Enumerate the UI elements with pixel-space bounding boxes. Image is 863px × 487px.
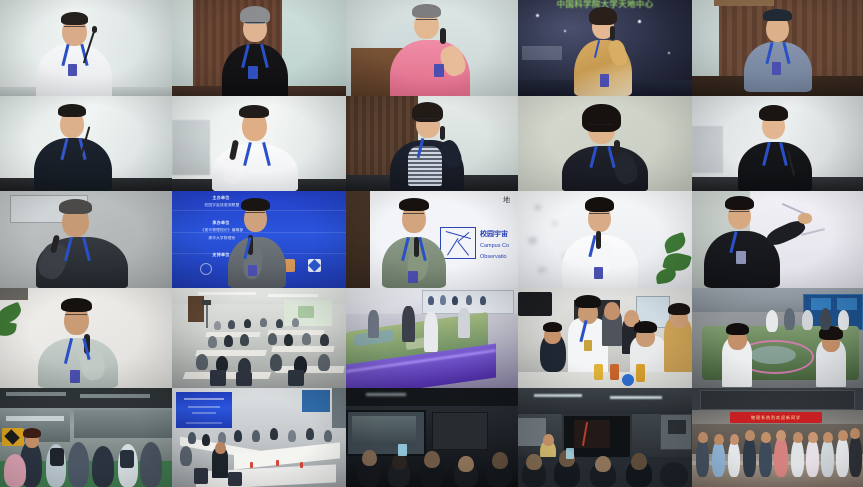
photo-cell-r4c1[interactable]	[0, 288, 172, 388]
photo-cell-r4c4[interactable]	[518, 288, 692, 388]
photo-cell-r1c2[interactable]	[172, 0, 346, 96]
photo-cell-r3c2[interactable]: 主办单位 校园宇宙线观测联盟 承办单位 《现代物理知识》编辑部 清华大学物理系 …	[172, 191, 346, 288]
photo-cell-r5c3[interactable]	[346, 388, 518, 487]
welcome-banner: 物理系热烈欢迎新同学	[730, 412, 822, 423]
logo-label-en-2: Observatio	[480, 254, 507, 260]
photo-cell-r5c4[interactable]	[518, 388, 692, 487]
photo-cell-r2c2[interactable]	[172, 96, 346, 191]
photo-cell-r3c5[interactable]	[692, 191, 863, 288]
photo-cell-r2c3[interactable]	[346, 96, 518, 191]
welcome-banner-text: 物理系热烈欢迎新同学	[730, 412, 822, 423]
photo-cell-r4c3[interactable]	[346, 288, 518, 388]
photo-cell-r5c1[interactable]	[0, 388, 172, 487]
photo-cell-r2c4[interactable]	[518, 96, 692, 191]
photo-cell-r1c5[interactable]	[692, 0, 863, 96]
logo-label-en-1: Campus Co	[480, 243, 509, 249]
photo-cell-r3c3[interactable]: 地 校园宇宙 Campus Co Observatio	[346, 191, 518, 288]
photo-cell-r4c5[interactable]	[692, 288, 863, 388]
slide-corner-label: 地	[503, 195, 510, 205]
photo-cell-r2c5[interactable]	[692, 96, 863, 191]
photo-cell-r3c1[interactable]	[0, 191, 172, 288]
photo-cell-r5c5[interactable]: 物理系热烈欢迎新同学	[692, 388, 863, 487]
photo-cell-r1c3[interactable]	[346, 0, 518, 96]
photo-cell-r1c4[interactable]: 中国科学院大学天地中心	[518, 0, 692, 96]
photo-cell-r4c2[interactable]	[172, 288, 346, 388]
photo-collage-grid: 中国科学院大学天地中心	[0, 0, 863, 487]
photo-cell-r5c2[interactable]	[172, 388, 346, 487]
photo-cell-r3c4[interactable]	[518, 191, 692, 288]
photo-cell-r2c1[interactable]	[0, 96, 172, 191]
photo-cell-r1c1[interactable]	[0, 0, 172, 96]
logo-label-cn: 校园宇宙	[480, 229, 508, 239]
